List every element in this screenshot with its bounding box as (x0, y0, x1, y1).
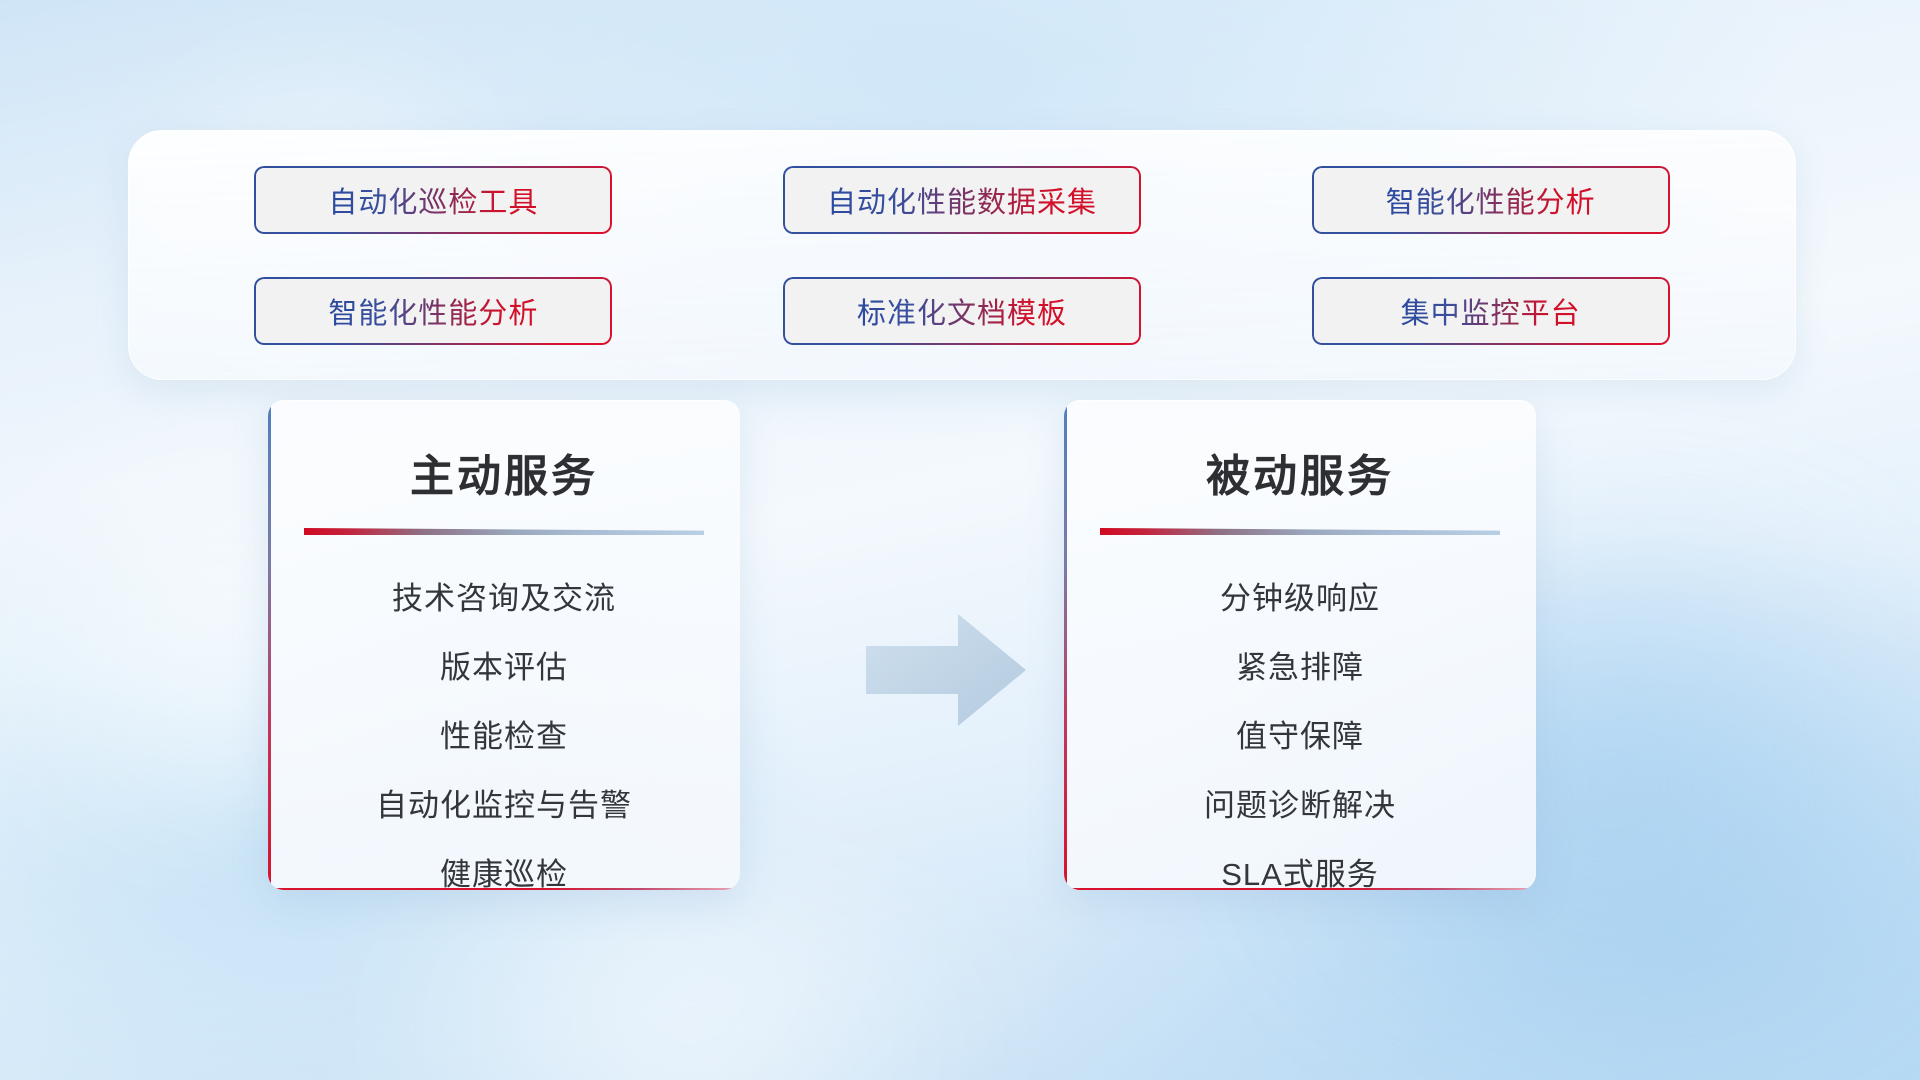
capability-pill-label: 自动化性能数据采集 (827, 179, 1097, 221)
capability-pill-automated-inspection-tool[interactable]: 自动化巡检工具 (254, 166, 612, 234)
list-item: 健康巡检 (440, 849, 568, 890)
card-divider (304, 528, 704, 535)
card-item-list: 分钟级响应 紧急排障 值守保障 问题诊断解决 SLA式服务 (1064, 573, 1536, 890)
service-card-proactive[interactable]: 主动服务 技术咨询及交流 版本评估 性能检查 自动化监控与告警 健康巡检 (268, 400, 740, 890)
diagram-canvas: 自动化巡检工具 自动化性能数据采集 智能化性能分析 智能化性能分析 标准化文档模… (0, 0, 1920, 1080)
list-item: 分钟级响应 (1220, 573, 1380, 618)
list-item: 技术咨询及交流 (392, 573, 616, 618)
capability-pill-intelligent-performance-analysis-top[interactable]: 智能化性能分析 (1312, 166, 1670, 234)
capability-pill-centralized-monitoring-platform[interactable]: 集中监控平台 (1312, 277, 1670, 345)
list-item: 版本评估 (440, 642, 568, 687)
capability-pill-standardized-document-template[interactable]: 标准化文档模板 (783, 277, 1141, 345)
card-title: 主动服务 (268, 440, 740, 504)
capability-pill-automated-performance-data-collection[interactable]: 自动化性能数据采集 (783, 166, 1141, 234)
card-divider (1100, 528, 1500, 535)
service-card-reactive[interactable]: 被动服务 分钟级响应 紧急排障 值守保障 问题诊断解决 SLA式服务 (1064, 400, 1536, 890)
list-item: SLA式服务 (1221, 849, 1379, 890)
list-item: 性能检查 (440, 711, 568, 756)
capability-pill-grid: 自动化巡检工具 自动化性能数据采集 智能化性能分析 智能化性能分析 标准化文档模… (129, 131, 1795, 379)
background-glow (240, 880, 1140, 1080)
right-arrow-icon (862, 610, 1030, 730)
capability-pill-label: 智能化性能分析 (328, 290, 538, 332)
list-item: 问题诊断解决 (1204, 780, 1396, 825)
capability-pill-label: 标准化文档模板 (857, 290, 1067, 332)
card-title: 被动服务 (1064, 440, 1536, 504)
card-item-list: 技术咨询及交流 版本评估 性能检查 自动化监控与告警 健康巡检 (268, 573, 740, 890)
capability-pill-label: 智能化性能分析 (1386, 179, 1596, 221)
capability-pill-intelligent-performance-analysis-bottom[interactable]: 智能化性能分析 (254, 277, 612, 345)
list-item: 值守保障 (1236, 711, 1364, 756)
capability-pill-label: 集中监控平台 (1401, 290, 1581, 332)
capability-panel: 自动化巡检工具 自动化性能数据采集 智能化性能分析 智能化性能分析 标准化文档模… (128, 130, 1796, 380)
capability-pill-label: 自动化巡检工具 (328, 179, 538, 221)
list-item: 紧急排障 (1236, 642, 1364, 687)
list-item: 自动化监控与告警 (376, 780, 632, 825)
